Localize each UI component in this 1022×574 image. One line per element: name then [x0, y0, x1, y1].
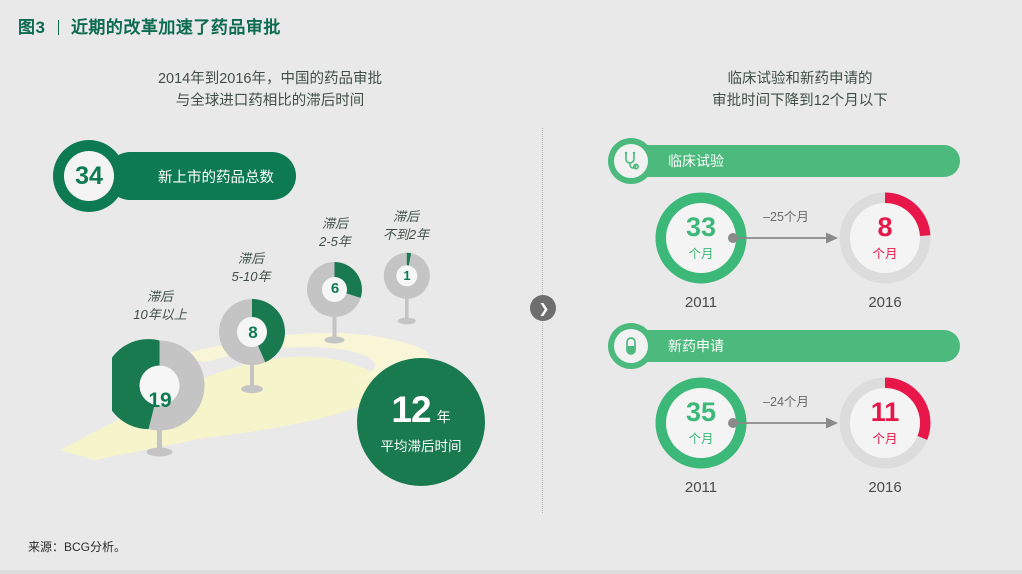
section-icon-ring: [608, 138, 654, 184]
section-header-clinical-trial: 临床试验: [608, 145, 960, 177]
section-label: 新药申请: [630, 330, 960, 362]
comparison-node-end: 8 个月 2016: [830, 192, 940, 311]
title-text: 近期的改革加速了药品审批: [71, 18, 281, 37]
total-drugs-ring: 34: [53, 140, 125, 212]
section-icon-ring: [608, 323, 654, 369]
right-heading-line1: 临床试验和新药申请的: [600, 68, 1000, 90]
figure-label: 图3: [18, 18, 45, 37]
section-header-new-drug-application: 新药申请: [608, 330, 960, 362]
end-value-group: 11 个月: [850, 388, 920, 458]
end-unit: 个月: [872, 428, 897, 447]
pin-donut-chart: [306, 261, 364, 353]
page-title: 图3 近期的改革加速了药品审批: [18, 13, 281, 38]
pin-value: 6: [306, 277, 364, 299]
start-value: 33: [686, 214, 716, 241]
total-drugs-value: 34: [64, 151, 114, 201]
average-lag-unit: 年: [437, 407, 451, 427]
right-heading-line2: 审批时间下降到12个月以下: [600, 90, 1000, 112]
pin-value: 19: [112, 385, 208, 417]
title-separator: [58, 20, 59, 35]
pin-label-line1: 滞后: [383, 208, 429, 226]
pill-icon: [614, 329, 648, 363]
end-year: 2016: [830, 294, 940, 311]
comparison-row-clinical-trial: 33 个月 2011 –25个月 8 个月 2: [608, 192, 968, 327]
end-donut: 11 个月: [839, 377, 931, 469]
bottom-rule: [0, 570, 1022, 574]
arrow-connector: [728, 230, 844, 246]
source-note: 来源：BCG分析。: [28, 538, 126, 555]
end-value: 11: [871, 399, 900, 426]
average-lag-value: 12: [391, 389, 430, 431]
pin-label: 滞后 5-10年: [231, 250, 270, 285]
average-lag-caption: 平均滞后时间: [381, 435, 462, 455]
delta-label: –24个月: [726, 391, 846, 410]
start-value: 35: [686, 399, 716, 426]
end-value: 8: [877, 214, 892, 241]
chevron-right-icon: ❯: [530, 295, 556, 321]
arrow-connector: [728, 415, 844, 431]
pin-value: 1: [383, 265, 431, 285]
pin-label-line1: 滞后: [319, 215, 351, 233]
start-year: 2011: [646, 294, 756, 311]
pin-label: 滞后 2-5年: [319, 215, 351, 250]
pin-label-line2: 10年以上: [133, 306, 186, 324]
infographic-page: 图3 近期的改革加速了药品审批 2014年到2016年，中国的药品审批 与全球进…: [0, 0, 1022, 574]
start-year: 2011: [646, 479, 756, 496]
total-drugs-label: 新上市的药品总数: [106, 152, 296, 200]
pin-label-line1: 滞后: [133, 288, 186, 306]
end-year: 2016: [830, 479, 940, 496]
pin-label-line1: 滞后: [231, 250, 270, 268]
section-label: 临床试验: [630, 145, 960, 177]
start-unit: 个月: [688, 428, 713, 447]
comparison-node-end: 11 个月 2016: [830, 377, 940, 496]
pin-donut-chart: [218, 298, 288, 403]
start-unit: 个月: [688, 243, 713, 262]
stethoscope-icon: [614, 144, 648, 178]
end-value-group: 8 个月: [850, 203, 920, 273]
pin-value: 8: [218, 321, 288, 345]
end-unit: 个月: [872, 243, 897, 262]
left-panel-heading: 2014年到2016年，中国的药品审批 与全球进口药相比的滞后时间: [60, 68, 480, 113]
pin-label-line2: 不到2年: [383, 226, 429, 244]
pin-label: 滞后 不到2年: [383, 208, 429, 243]
comparison-row-new-drug-application: 35 个月 2011 –24个月 11 个月: [608, 377, 968, 512]
left-heading-line1: 2014年到2016年，中国的药品审批: [60, 68, 480, 90]
pin-label-line2: 2-5年: [319, 233, 351, 251]
delta-label: –25个月: [726, 206, 846, 225]
right-panel-heading: 临床试验和新药申请的 审批时间下降到12个月以下: [600, 68, 1000, 113]
average-lag-circle: 12 年 平均滞后时间: [357, 358, 485, 486]
end-donut: 8 个月: [839, 192, 931, 284]
left-heading-line2: 与全球进口药相比的滞后时间: [60, 90, 480, 112]
pin-label-line2: 5-10年: [231, 268, 270, 286]
pin-label: 滞后 10年以上: [133, 288, 186, 323]
average-lag-value-row: 12 年: [391, 389, 450, 431]
